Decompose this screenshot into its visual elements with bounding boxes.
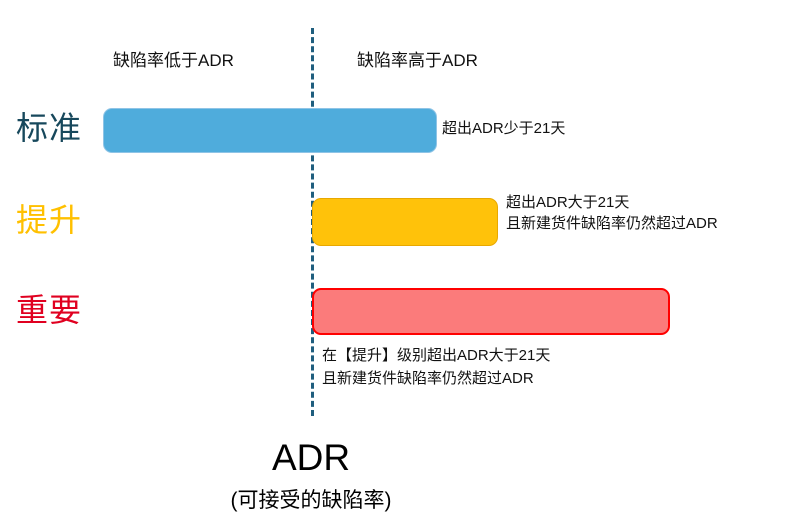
- level-annotation-standard: 超出ADR少于21天: [442, 118, 565, 139]
- adr-subtitle: (可接受的缺陷率): [0, 488, 622, 514]
- level-label-standard: 标准: [16, 109, 82, 147]
- adr-title: ADR: [0, 436, 622, 480]
- level-bar-standard: [103, 108, 437, 153]
- level-row-standard: 标准 超出ADR少于21天: [0, 100, 798, 160]
- level-annotation-elevated: 超出ADR大于21天 且新建货件缺陷率仍然超过ADR: [506, 192, 718, 234]
- region-label-below-adr: 缺陷率低于ADR: [113, 50, 234, 72]
- level-bar-critical: [312, 288, 670, 335]
- level-annotation-critical: 在【提升】级别超出ADR大于21天 且新建货件缺陷率仍然超过ADR: [322, 344, 550, 390]
- level-bar-elevated: [312, 198, 498, 246]
- level-label-elevated: 提升: [16, 201, 82, 239]
- region-label-above-adr: 缺陷率高于ADR: [357, 50, 478, 72]
- level-row-critical: 重要: [0, 282, 798, 342]
- level-label-critical: 重要: [16, 291, 82, 329]
- diagram-canvas: 缺陷率低于ADR 缺陷率高于ADR 标准 超出ADR少于21天 提升 超出ADR…: [0, 0, 798, 528]
- level-row-elevated: 提升 超出ADR大于21天 且新建货件缺陷率仍然超过ADR: [0, 192, 798, 254]
